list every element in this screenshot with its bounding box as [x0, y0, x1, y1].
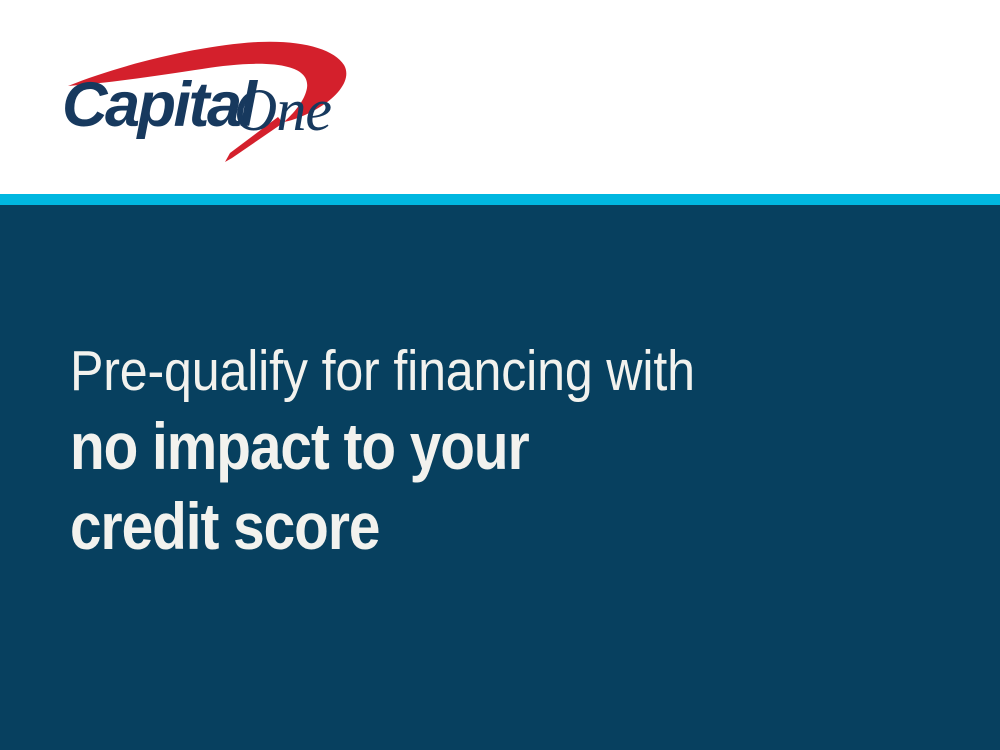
capital-one-logo: Capital One [62, 31, 354, 139]
promo-banner: Capital One Pre-qualify for financing wi… [0, 0, 1000, 750]
hero-section: Pre-qualify for financing with no impact… [0, 205, 1000, 750]
accent-divider [0, 194, 1000, 205]
logo-wordmark-capital: Capital [62, 70, 259, 140]
headline-line-3: credit score [70, 486, 758, 566]
headline: Pre-qualify for financing with no impact… [70, 336, 870, 566]
banner-header: Capital One [0, 0, 1000, 194]
logo-wordmark-one: One [234, 77, 331, 143]
headline-line-1: Pre-qualify for financing with [70, 336, 774, 406]
headline-line-2: no impact to your [70, 406, 758, 486]
